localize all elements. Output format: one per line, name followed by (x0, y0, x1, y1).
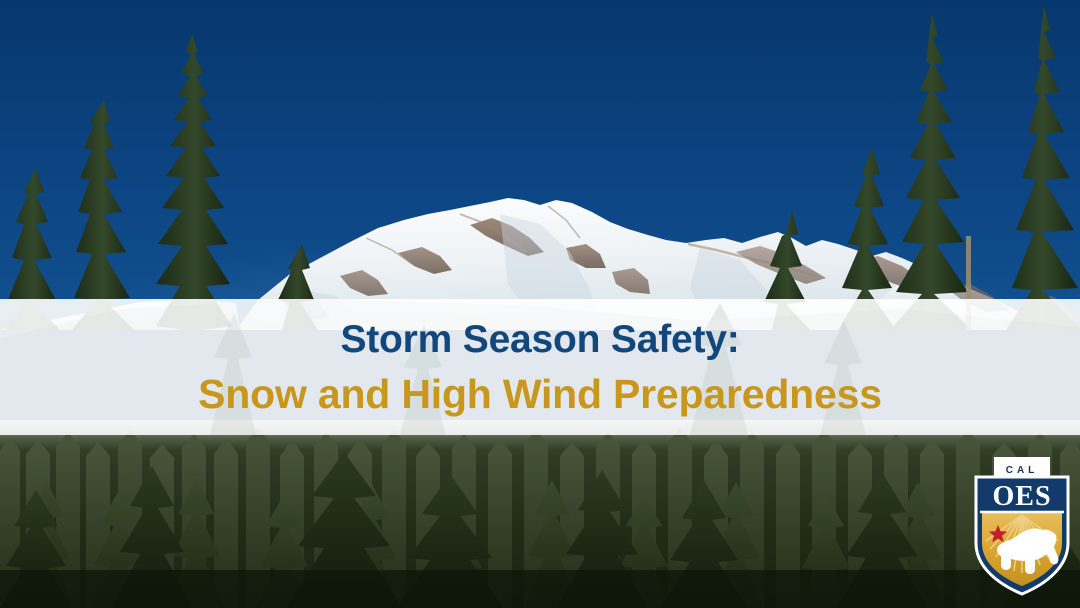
forest-understory (0, 570, 1080, 608)
conifer-tree (1006, 6, 1080, 330)
foreground-conifers-upper (0, 0, 1080, 330)
cal-oes-seal-icon: CAL (968, 457, 1076, 597)
logo-cal-text: CAL (1006, 465, 1039, 476)
conifer-tree (890, 14, 972, 330)
storm-safety-poster: Storm Season Safety: Snow and High Wind … (0, 0, 1080, 608)
forest-photo (0, 420, 1080, 608)
cal-oes-logo: CAL (968, 457, 1076, 597)
poster-title-line-1: Storm Season Safety: (340, 320, 739, 361)
conifer-tree (156, 34, 232, 330)
poster-title-line-2: Snow and High Wind Preparedness (198, 373, 882, 416)
logo-oes-text: OES (992, 481, 1051, 512)
forest-svg (0, 420, 1080, 608)
title-banner: Storm Season Safety: Snow and High Wind … (0, 299, 1080, 435)
conifer-tree (72, 100, 134, 330)
